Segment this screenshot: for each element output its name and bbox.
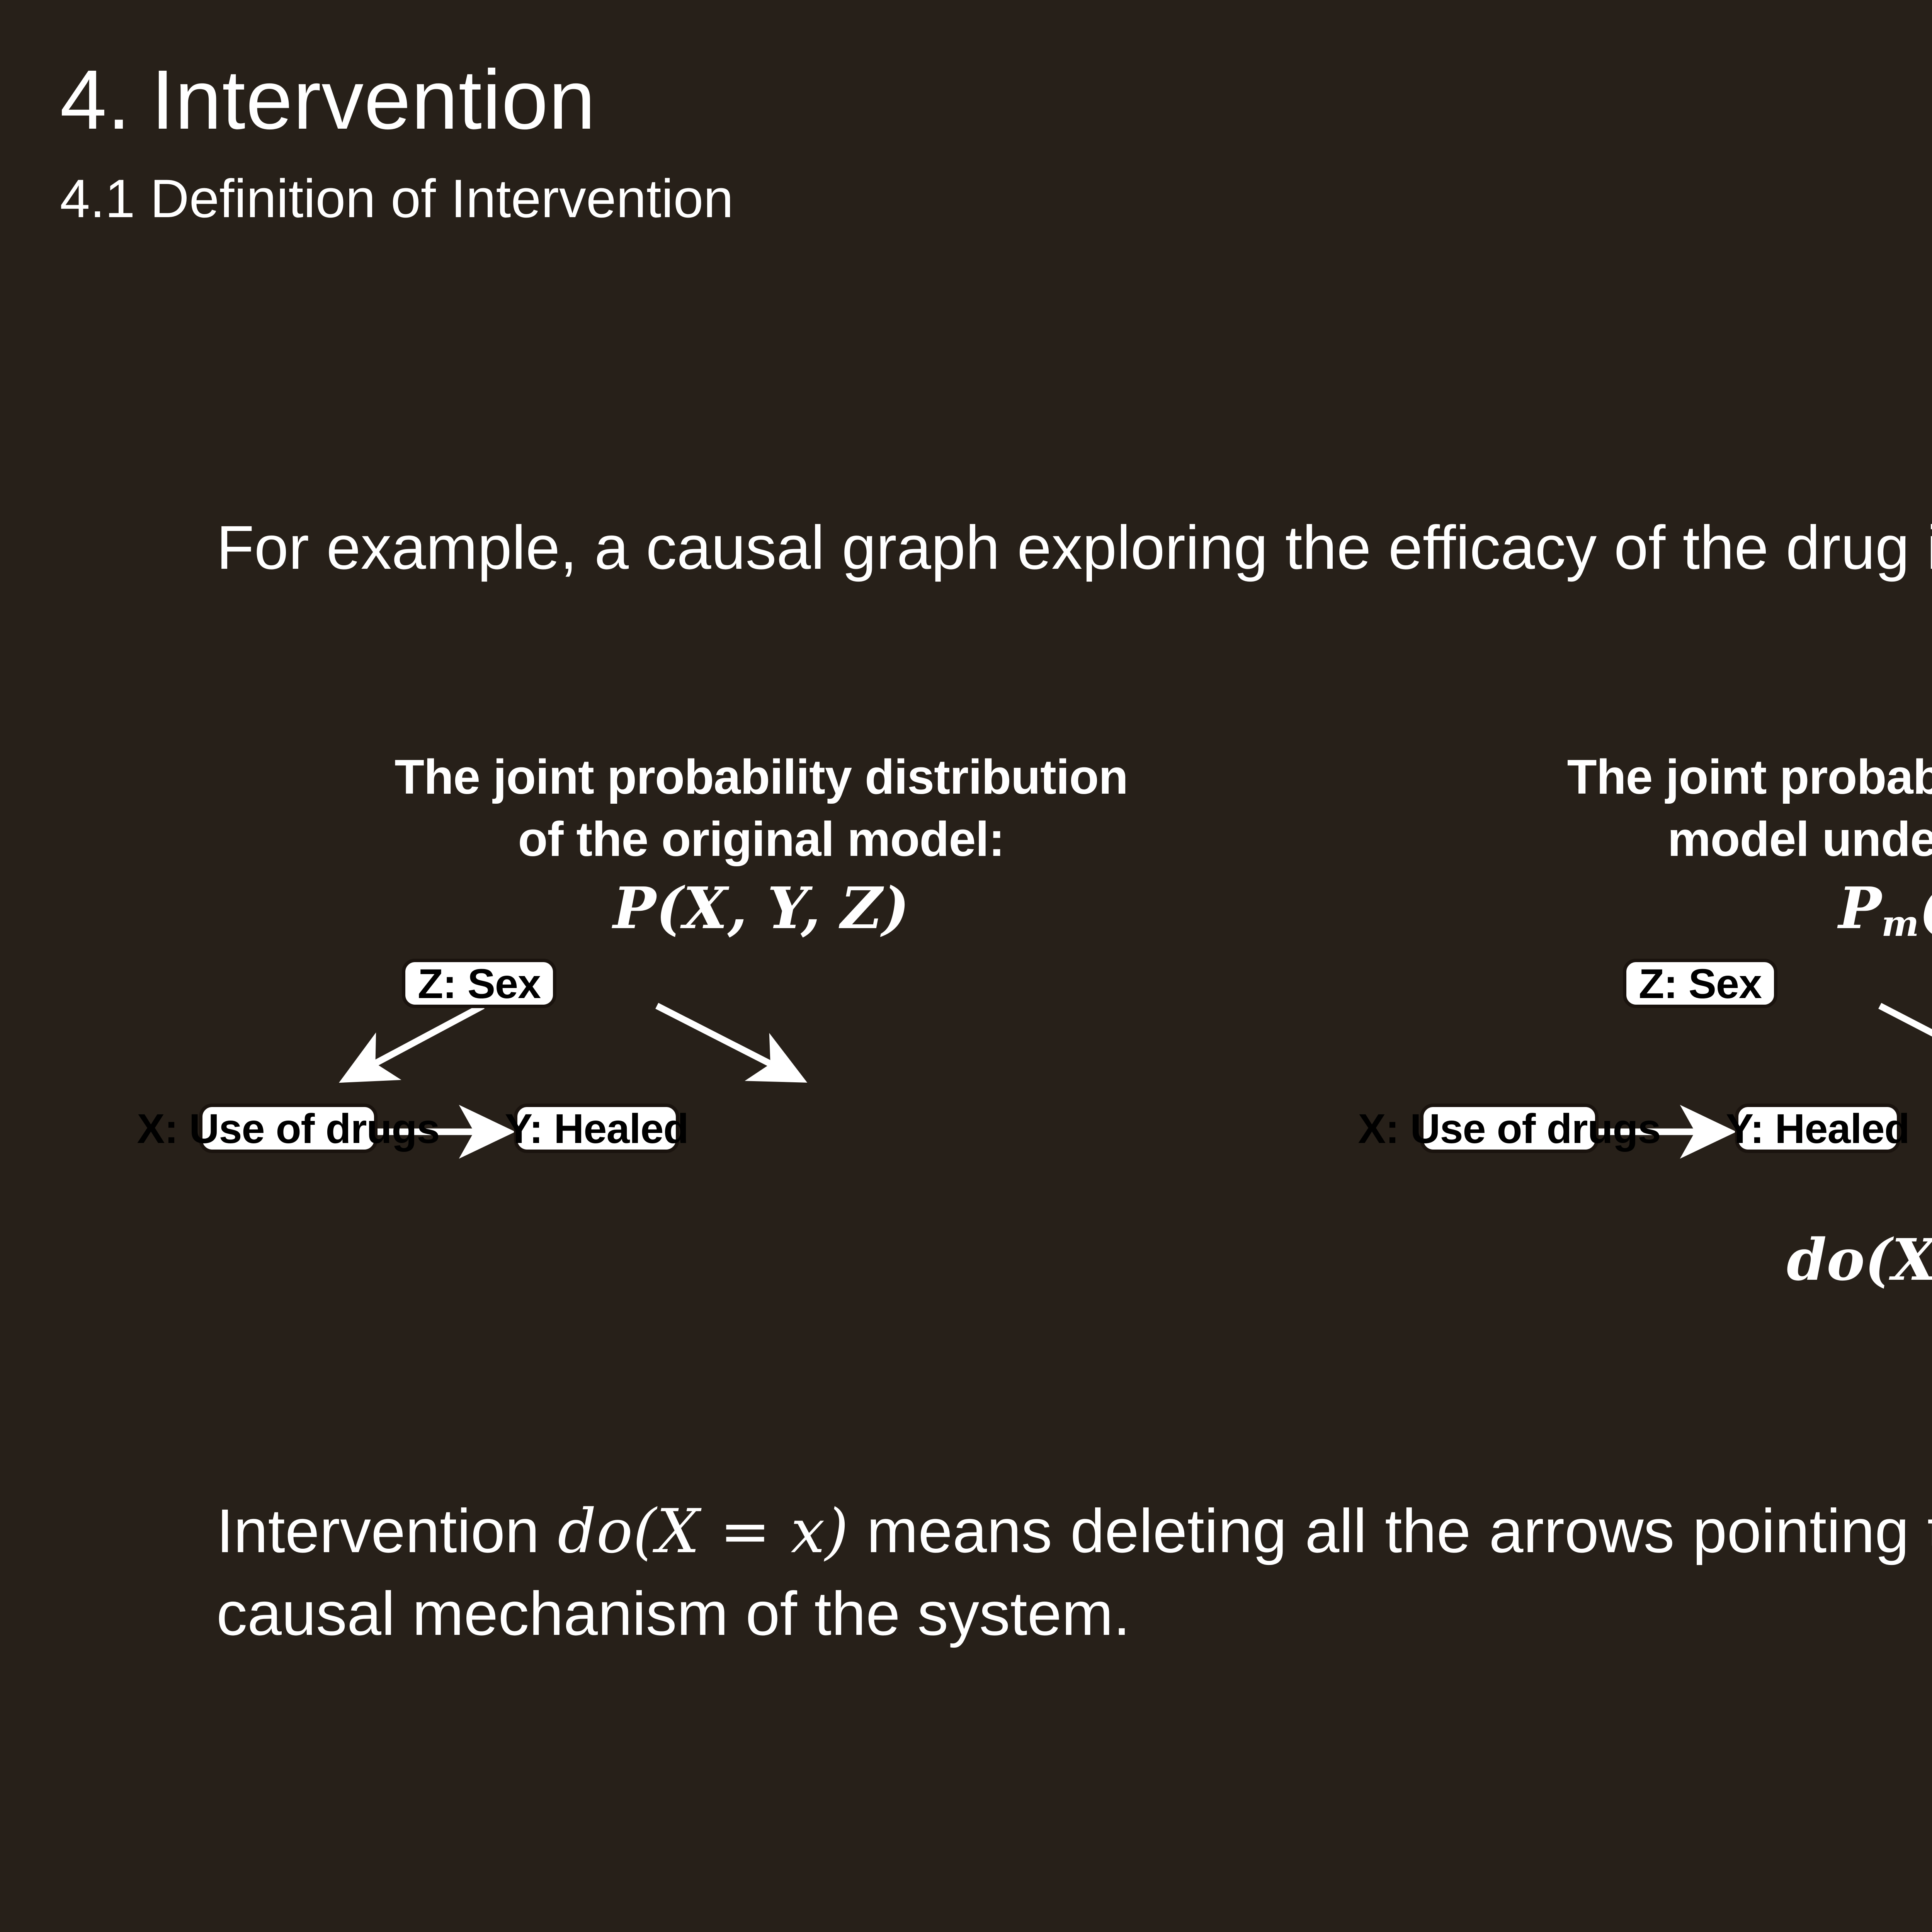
diagram-header-line2: model under the intervention: xyxy=(1422,808,1932,870)
closing-paragraph: Intervention do(X = x) means deleting al… xyxy=(216,1490,1932,1655)
node-x-use-of-drugs-original[interactable]: X: Use of drugs xyxy=(199,1104,378,1153)
formula-args: (X, Y, Z) xyxy=(1919,874,1932,942)
closing-part2: means deleting all the arrows pointing t… xyxy=(849,1496,1932,1565)
diagram-header-intervened: The joint probability distribution of th… xyxy=(1422,746,1932,871)
node-label: X: Use of drugs xyxy=(1358,1104,1660,1153)
diagram-header-line1: The joint probability distribution of th… xyxy=(1422,746,1932,808)
formula-base: P xyxy=(613,874,656,942)
node-y-healed-intervened[interactable]: Y: Healed xyxy=(1735,1104,1900,1153)
title-number: 4. xyxy=(60,53,131,147)
diagram-header-original: The joint probability distribution of th… xyxy=(201,746,1321,871)
diagram-original-model: The joint probability distribution of th… xyxy=(201,746,1321,1194)
edge-z-to-y xyxy=(1880,1006,1932,1078)
node-z-sex-intervened[interactable]: Z: Sex xyxy=(1623,959,1777,1008)
slide-root: 4.Intervention 4.1 Definition of Interve… xyxy=(0,0,1932,1932)
title-text: Intervention xyxy=(151,53,596,147)
diagram-header-line2: of the original model: xyxy=(201,808,1321,870)
node-label: X: Use of drugs xyxy=(137,1104,439,1153)
do-operator-text: do(X = x) xyxy=(1787,1226,1932,1293)
diagram-intervened-model: The joint probability distribution of th… xyxy=(1422,746,1932,1293)
node-z-sex-original[interactable]: Z: Sex xyxy=(402,959,556,1008)
node-y-healed-original[interactable]: Y: Healed xyxy=(514,1104,679,1153)
causal-graph-intervened: Z: Sex X: Use of drugs Y: Healed xyxy=(1422,963,1932,1194)
intro-paragraph: For example, a causal graph exploring th… xyxy=(216,506,1932,589)
node-label: Y: Healed xyxy=(1726,1104,1909,1153)
formula-subscript: m xyxy=(1881,903,1919,944)
closing-math-do: do(X = x) xyxy=(558,1496,849,1566)
node-label: Y: Healed xyxy=(505,1104,688,1153)
page-subtitle: 4.1 Definition of Intervention xyxy=(60,172,1932,226)
edge-z-to-y xyxy=(657,1006,799,1078)
causal-graph-original: Z: Sex X: Use of drugs Y: Healed xyxy=(201,963,1321,1194)
diagram-header-line1: The joint probability distribution xyxy=(201,746,1321,808)
slide-header: 4.Intervention 4.1 Definition of Interve… xyxy=(60,58,1932,226)
closing-part1: Intervention xyxy=(216,1496,558,1565)
page-title: 4.Intervention xyxy=(60,58,1932,142)
diagram-formula-original: P(X, Y, Z) xyxy=(201,877,1321,940)
node-x-use-of-drugs-intervened[interactable]: X: Use of drugs xyxy=(1420,1104,1599,1153)
do-operator-caption: do(X = x) xyxy=(1422,1226,1932,1293)
diagram-formula-intervened: Pm(X, Y, Z) xyxy=(1422,877,1932,940)
formula-base: P xyxy=(1838,874,1881,942)
node-label: Z: Sex xyxy=(1639,959,1762,1008)
node-label: Z: Sex xyxy=(418,959,541,1008)
edge-z-to-x xyxy=(347,1006,483,1078)
formula-args: (X, Y, Z) xyxy=(656,874,910,942)
causal-graph-edges-original xyxy=(201,963,1321,1202)
